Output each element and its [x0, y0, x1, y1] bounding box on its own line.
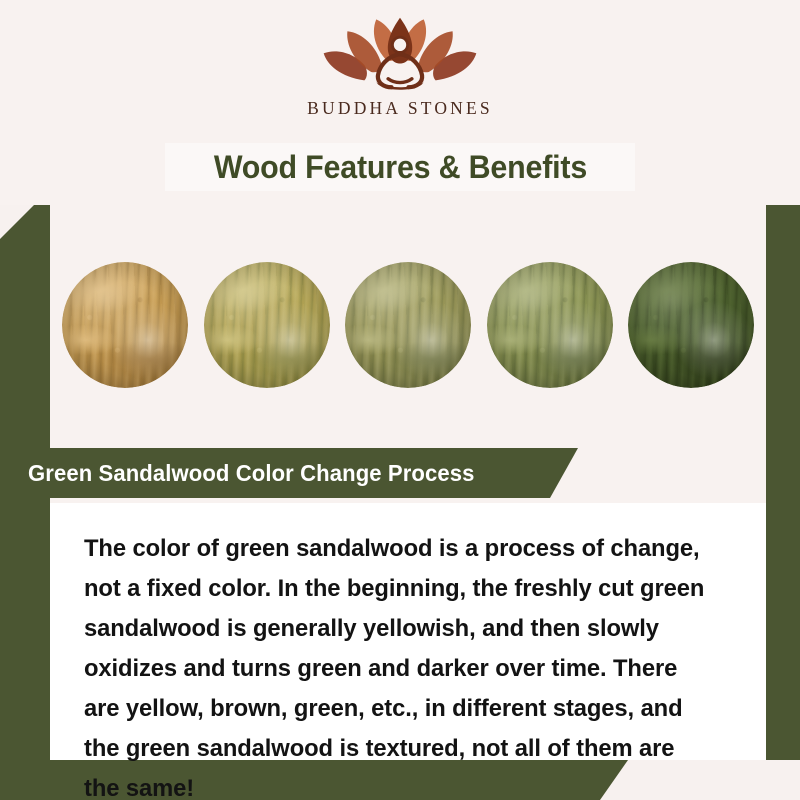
- section-banner-title: Green Sandalwood Color Change Process: [28, 460, 474, 487]
- bead-color-stages: [50, 230, 766, 420]
- description-card: The color of green sandalwood is a proce…: [50, 503, 766, 760]
- bead-shading-3: [345, 262, 471, 388]
- page-title-plaque: Wood Features & Benefits: [165, 143, 635, 191]
- bead-shading-1: [62, 262, 188, 388]
- bead-stage-5: [628, 262, 754, 388]
- bead-stage-3: [345, 262, 471, 388]
- lotus-meditation-icon: [315, 16, 485, 94]
- bead-shading-4: [487, 262, 613, 388]
- bead-stage-4: [487, 262, 613, 388]
- frame-bar-left: [0, 205, 50, 800]
- section-banner: Green Sandalwood Color Change Process: [0, 448, 578, 498]
- infographic-canvas: BUDDHA STONES Wood Features & Benefits G…: [0, 0, 800, 800]
- bead-stage-1: [62, 262, 188, 388]
- page-title: Wood Features & Benefits: [213, 149, 586, 186]
- description-paragraph: The color of green sandalwood is a proce…: [84, 529, 713, 800]
- bead-stage-2: [204, 262, 330, 388]
- bead-shading-5: [628, 262, 754, 388]
- bead-shading-2: [204, 262, 330, 388]
- brand-name: BUDDHA STONES: [307, 98, 493, 119]
